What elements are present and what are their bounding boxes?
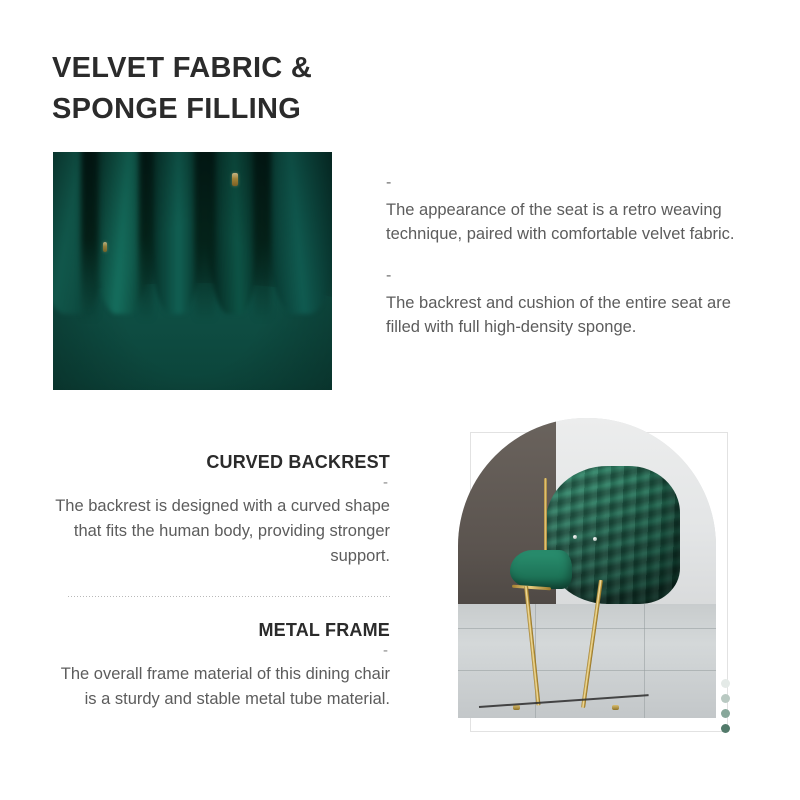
bullet-dash-marker: - [386, 269, 758, 283]
chair-leg-foot [612, 705, 619, 710]
feature-dash-marker: - [54, 476, 388, 489]
feature-text: The backrest is designed with a curved s… [54, 494, 390, 568]
feature-metal-frame: METAL FRAME - The overall frame material… [54, 620, 390, 712]
feature-heading: CURVED BACKREST [54, 452, 390, 473]
bullet-text: The backrest and cushion of the entire s… [386, 291, 758, 340]
floor-tile-line [644, 604, 645, 718]
feature-heading: METAL FRAME [54, 620, 390, 641]
velvet-vignette [53, 152, 332, 390]
chair-stud [573, 535, 577, 539]
chair-product-image [458, 418, 716, 718]
velvet-closeup-image [53, 152, 332, 390]
dot-2[interactable] [721, 694, 730, 703]
bullet-text: The appearance of the seat is a retro we… [386, 198, 758, 247]
chair-seat [510, 550, 572, 589]
feature-curved-backrest: CURVED BACKREST - The backrest is design… [54, 452, 390, 568]
product-feature-page: VELVET FABRIC & SPONGE FILLING - The app… [0, 0, 800, 800]
section-divider [68, 596, 390, 597]
page-dot-indicator[interactable] [721, 679, 730, 733]
bullet-item: - The backrest and cushion of the entire… [386, 269, 758, 340]
bullet-dash-marker: - [386, 176, 758, 190]
feature-text: The overall frame material of this dinin… [54, 662, 390, 712]
bullet-item: - The appearance of the seat is a retro … [386, 176, 758, 247]
feature-dash-marker: - [54, 644, 388, 657]
dot-1[interactable] [721, 679, 730, 688]
dot-3[interactable] [721, 709, 730, 718]
floor-tile-line [458, 628, 716, 629]
dot-4[interactable] [721, 724, 730, 733]
page-title: VELVET FABRIC & SPONGE FILLING [52, 48, 572, 130]
feature-bullets: - The appearance of the seat is a retro … [386, 176, 758, 340]
